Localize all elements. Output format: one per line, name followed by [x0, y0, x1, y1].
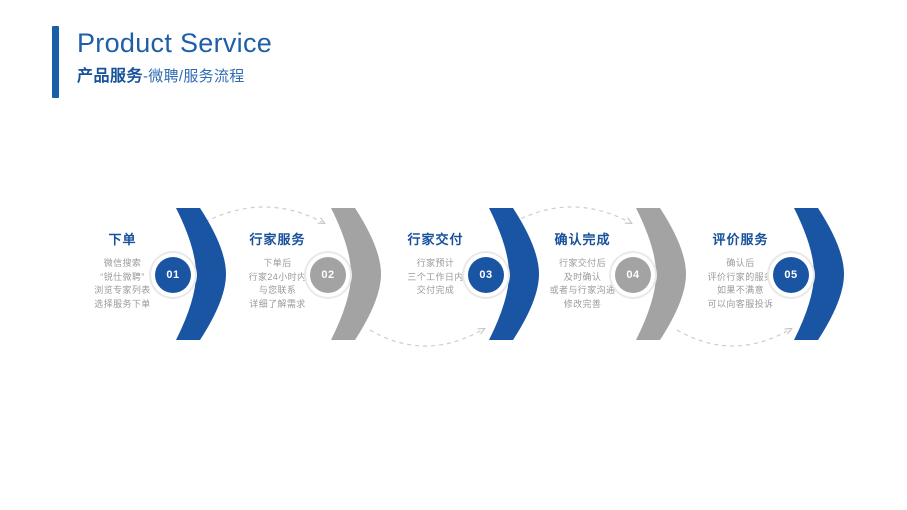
- flow-step-1[interactable]: 下单 微信搜索 “锐仕微聘” 浏览专家列表 选择服务下单 01: [70, 200, 222, 360]
- flow-step-2[interactable]: 行家服务 下单后 行家24小时内 与您联系 详细了解需求 02: [225, 200, 377, 360]
- flow-step-1-line-4: 选择服务下单: [70, 298, 175, 312]
- flow-step-2-line-4: 详细了解需求: [225, 298, 330, 312]
- flow-step-3[interactable]: 行家交付 行家预计 三个工作日内 交付完成 03: [383, 200, 535, 360]
- flow-step-5-line-4: 可以向客服投诉: [688, 298, 793, 312]
- flow-step-1-title: 下单: [70, 232, 175, 248]
- flow-step-4-number-badge: 04: [615, 257, 651, 293]
- flow-step-5-text: 评价服务 确认后 评价行家的服务 如果不满意 可以向客服投诉: [688, 200, 793, 311]
- process-flow-diagram: 下单 微信搜索 “锐仕微聘” 浏览专家列表 选择服务下单 01 行家服务 下单后…: [0, 0, 907, 510]
- flow-step-4-title: 确认完成: [530, 232, 635, 248]
- flow-step-4-line-4: 修改完善: [530, 298, 635, 312]
- flow-step-5-number-badge: 05: [773, 257, 809, 293]
- flow-step-2-title: 行家服务: [225, 232, 330, 248]
- flow-step-3-number-badge: 03: [468, 257, 504, 293]
- flow-step-5[interactable]: 评价服务 确认后 评价行家的服务 如果不满意 可以向客服投诉 05: [688, 200, 840, 360]
- flow-step-4-text: 确认完成 行家交付后 及时确认 或者与行家沟通 修改完善: [530, 200, 635, 311]
- flow-step-1-text: 下单 微信搜索 “锐仕微聘” 浏览专家列表 选择服务下单: [70, 200, 175, 311]
- flow-step-2-number-badge: 02: [310, 257, 346, 293]
- flow-step-5-title: 评价服务: [688, 232, 793, 248]
- flow-step-1-number-badge: 01: [155, 257, 191, 293]
- flow-step-4[interactable]: 确认完成 行家交付后 及时确认 或者与行家沟通 修改完善 04: [530, 200, 682, 360]
- flow-step-2-text: 行家服务 下单后 行家24小时内 与您联系 详细了解需求: [225, 200, 330, 311]
- flow-step-3-title: 行家交付: [383, 232, 488, 248]
